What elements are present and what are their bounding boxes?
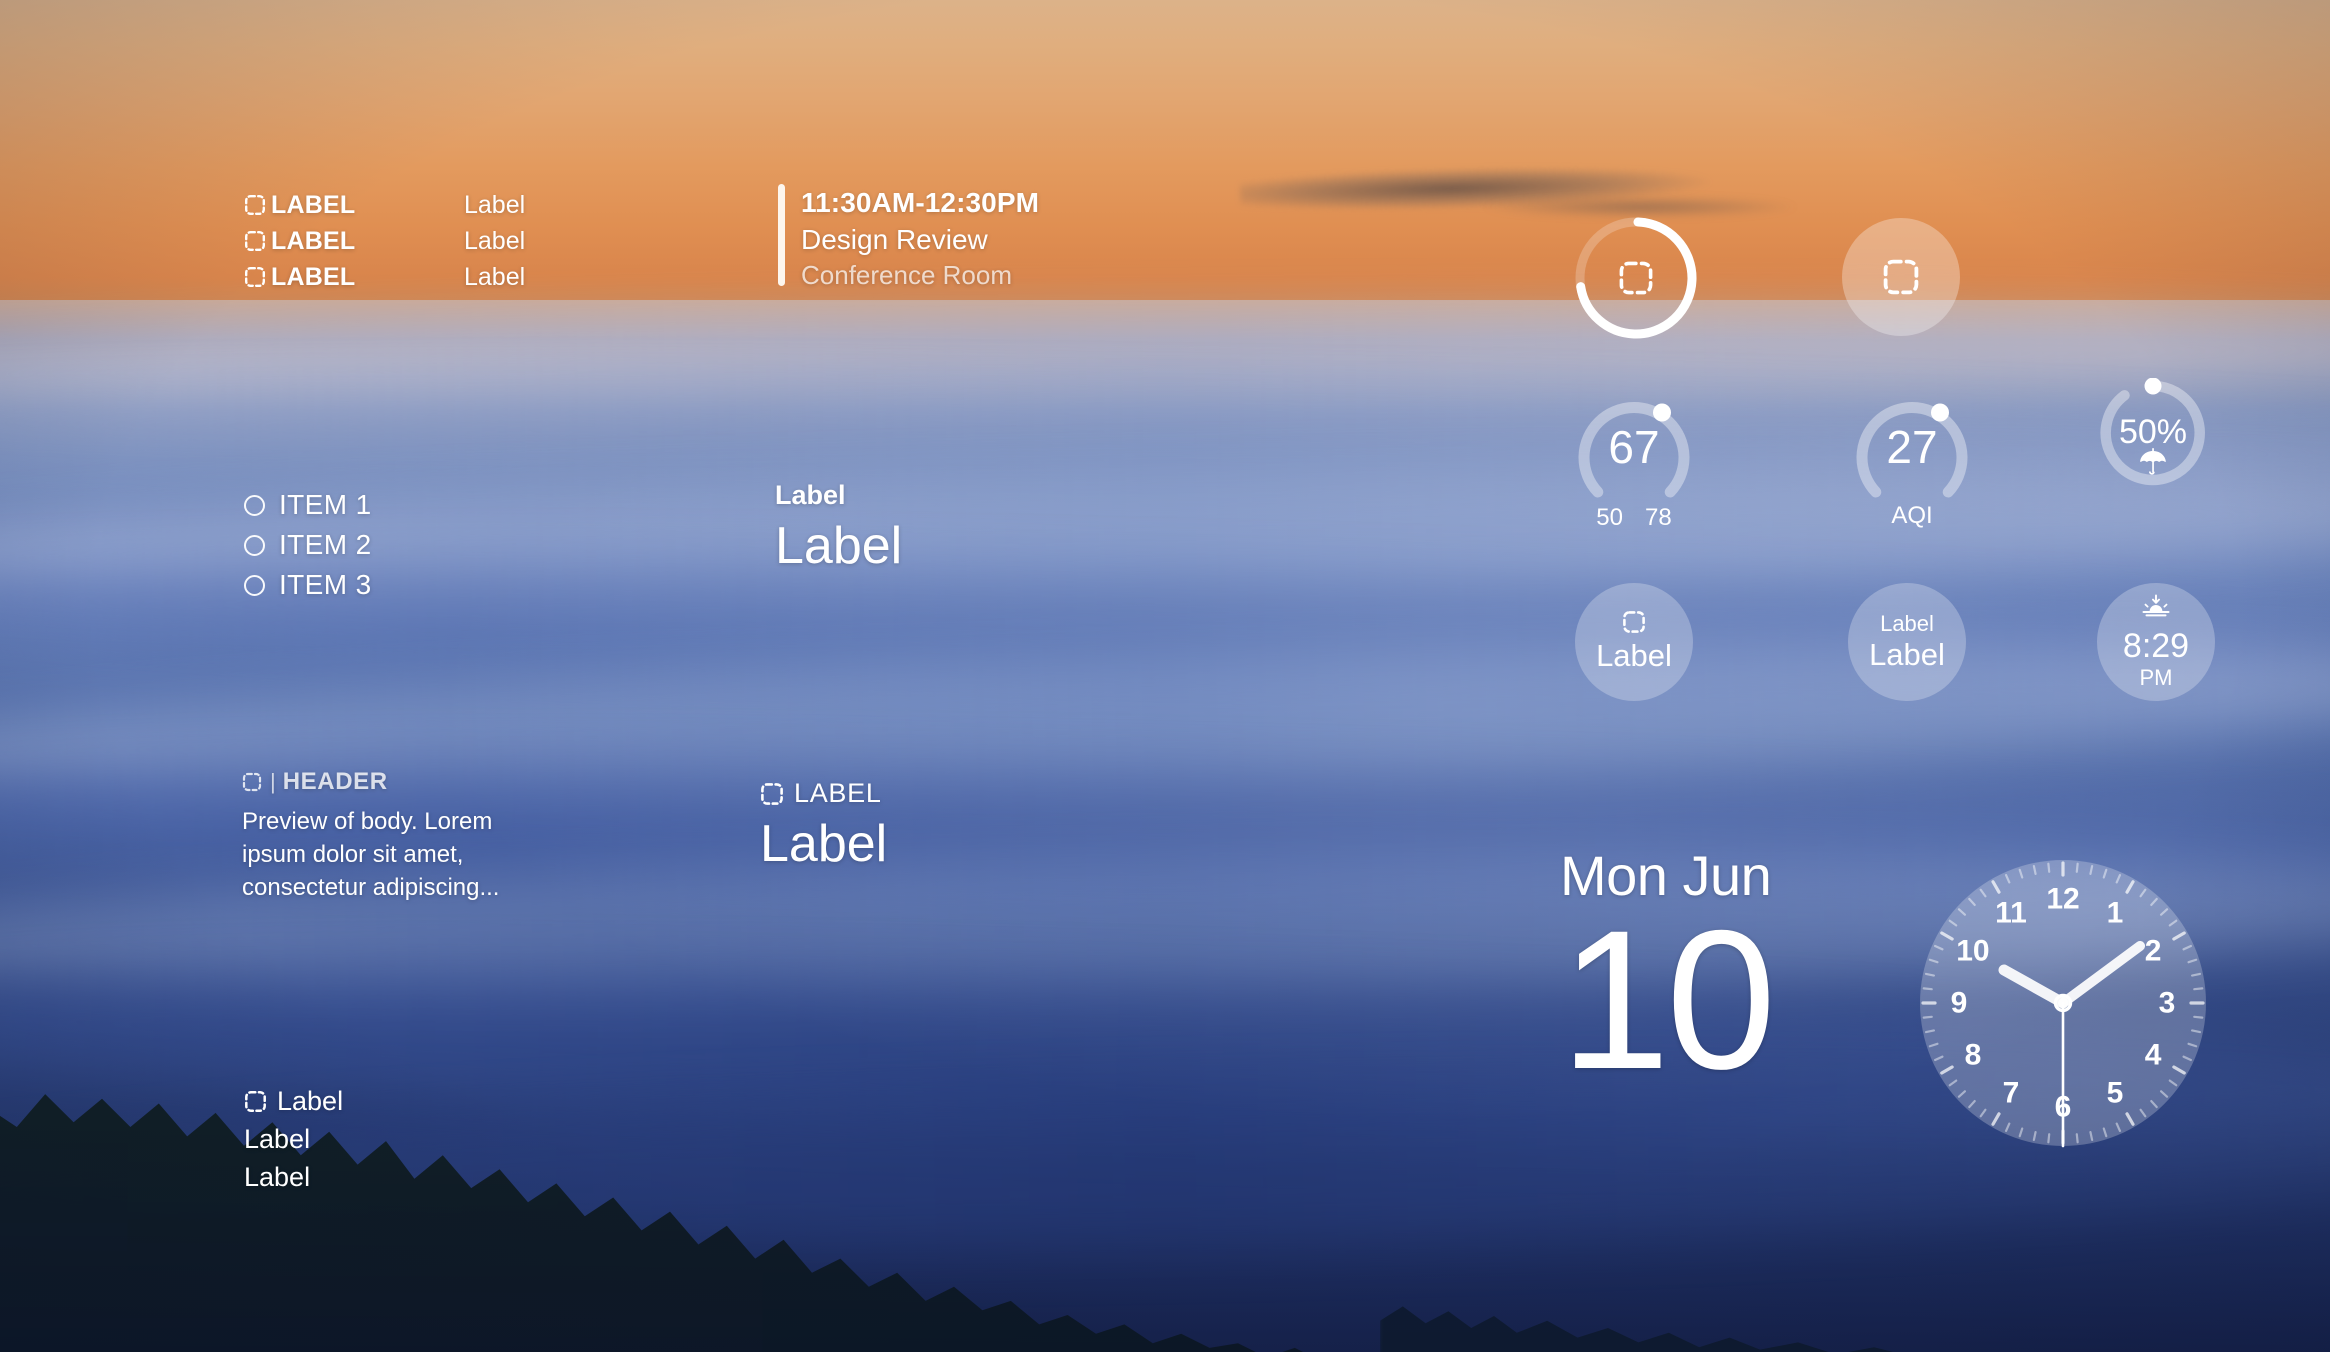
checklist-item-label: ITEM 3 [279, 569, 372, 601]
circle-label-text: Label [1596, 638, 1672, 674]
checklist-item[interactable]: ITEM 2 [244, 525, 372, 565]
separator: | [270, 769, 276, 795]
circle-top-label: Label [1880, 611, 1934, 637]
dashed-square-icon [244, 266, 266, 288]
notification-preview-widget[interactable]: | HEADER Preview of body. Lorem ipsum do… [242, 768, 542, 904]
gauge-caption: AQI [1848, 502, 1976, 530]
list-item-value: Label [464, 191, 525, 220]
event-location: Conference Room [801, 258, 1039, 293]
list-item[interactable]: Label [244, 1120, 343, 1158]
label-stack-widget-b[interactable]: LABEL Label [760, 778, 887, 877]
list-item[interactable]: LABEL Label [244, 223, 525, 259]
circle-outline-icon[interactable] [244, 495, 265, 516]
filled-circle-button[interactable] [1842, 218, 1960, 336]
clock-numeral: 5 [2107, 1077, 2124, 1110]
circle-label-text: Label [1869, 637, 1945, 673]
umbrella-icon [2098, 446, 2208, 476]
checklist-item[interactable]: ITEM 1 [244, 485, 372, 525]
label-text: Label [244, 1124, 310, 1155]
list-item[interactable]: LABEL Label [244, 259, 525, 295]
event-title: Design Review [801, 221, 1039, 258]
gauge-value: 67 [1608, 424, 1659, 470]
gauge-range-high: 78 [1645, 504, 1672, 532]
sunset-ampm: PM [2140, 665, 2173, 691]
dashed-square-icon [1622, 610, 1646, 634]
circle-outline-icon[interactable] [244, 575, 265, 596]
list-item-value: Label [464, 263, 525, 292]
label-text: Label [244, 1162, 310, 1193]
gauge-value: 27 [1886, 424, 1937, 470]
list-item[interactable]: Label [244, 1082, 343, 1120]
gauge-aqi[interactable]: 27 AQI [1848, 388, 1976, 530]
dashed-square-icon [760, 782, 784, 806]
bottom-label-widget[interactable]: Label Label Label [244, 1082, 343, 1196]
clock-numeral: 10 [1956, 935, 1989, 968]
label-stack-widget-a[interactable]: Label Label [775, 480, 902, 579]
clock-numeral: 1 [2107, 896, 2124, 929]
label-code: LABEL [794, 778, 882, 809]
clock-numeral: 2 [2145, 935, 2162, 968]
list-item[interactable]: Label [244, 1158, 343, 1196]
ring-progress-button[interactable] [1572, 214, 1700, 342]
clock-numeral: 4 [2145, 1039, 2162, 1072]
gauge-range-low: 50 [1596, 504, 1623, 532]
gauge-precipitation[interactable]: 50% [2098, 378, 2208, 490]
label-large: Label [760, 811, 887, 877]
calendar-event-widget[interactable]: 11:30AM-12:30PM Design Review Conference… [778, 184, 1039, 293]
label-list-widget[interactable]: LABEL Label LABEL Label LABEL Label [244, 187, 525, 295]
list-item-value: Label [464, 227, 525, 256]
notification-header: HEADER [283, 768, 388, 796]
dashed-square-icon [244, 194, 266, 216]
dashed-square-icon [242, 772, 262, 792]
clock-numeral: 3 [2159, 987, 2176, 1020]
list-item-code: LABEL [271, 263, 355, 292]
checklist-item-label: ITEM 2 [279, 529, 372, 561]
clock-numeral: 12 [2046, 883, 2079, 916]
event-accent-bar [778, 184, 785, 286]
date-widget[interactable]: Mon Jun 10 [1560, 845, 1772, 1095]
circle-label-widget-b[interactable]: Label Label [1848, 583, 1966, 701]
clock-numeral: 9 [1951, 987, 1968, 1020]
sunset-icon [2141, 594, 2171, 623]
gauge-temperature[interactable]: 67 50 78 [1570, 388, 1698, 532]
clock-numeral: 11 [1995, 896, 2027, 929]
dashed-square-icon [1882, 258, 1920, 296]
list-item-code: LABEL [271, 191, 355, 220]
event-time: 11:30AM-12:30PM [801, 184, 1039, 221]
list-item-code: LABEL [271, 227, 355, 256]
notification-body: Preview of body. Lorem ipsum dolor sit a… [242, 805, 542, 904]
label-small: Label [775, 480, 902, 511]
clock-numeral: 8 [1965, 1039, 1982, 1072]
label-text: Label [277, 1086, 343, 1117]
clock-numeral: 7 [2003, 1077, 2020, 1110]
circle-outline-icon[interactable] [244, 535, 265, 556]
checklist-item-label: ITEM 1 [279, 489, 372, 521]
date-day-number: 10 [1560, 905, 1772, 1095]
label-large: Label [775, 513, 902, 579]
dashed-square-icon [244, 230, 266, 252]
list-item[interactable]: LABEL Label [244, 187, 525, 223]
checklist-item[interactable]: ITEM 3 [244, 565, 372, 605]
sunset-time: 8:29 [2123, 627, 2189, 665]
clock-face: 121234567891011 [1918, 858, 2208, 1148]
dashed-square-icon [1618, 260, 1654, 296]
checklist-widget[interactable]: ITEM 1 ITEM 2 ITEM 3 [244, 485, 372, 605]
circle-label-widget-a[interactable]: Label [1575, 583, 1693, 701]
analog-clock-widget[interactable]: 121234567891011 [1918, 858, 2208, 1148]
sunset-time-widget[interactable]: 8:29 PM [2097, 583, 2215, 701]
dashed-square-icon [244, 1090, 267, 1113]
